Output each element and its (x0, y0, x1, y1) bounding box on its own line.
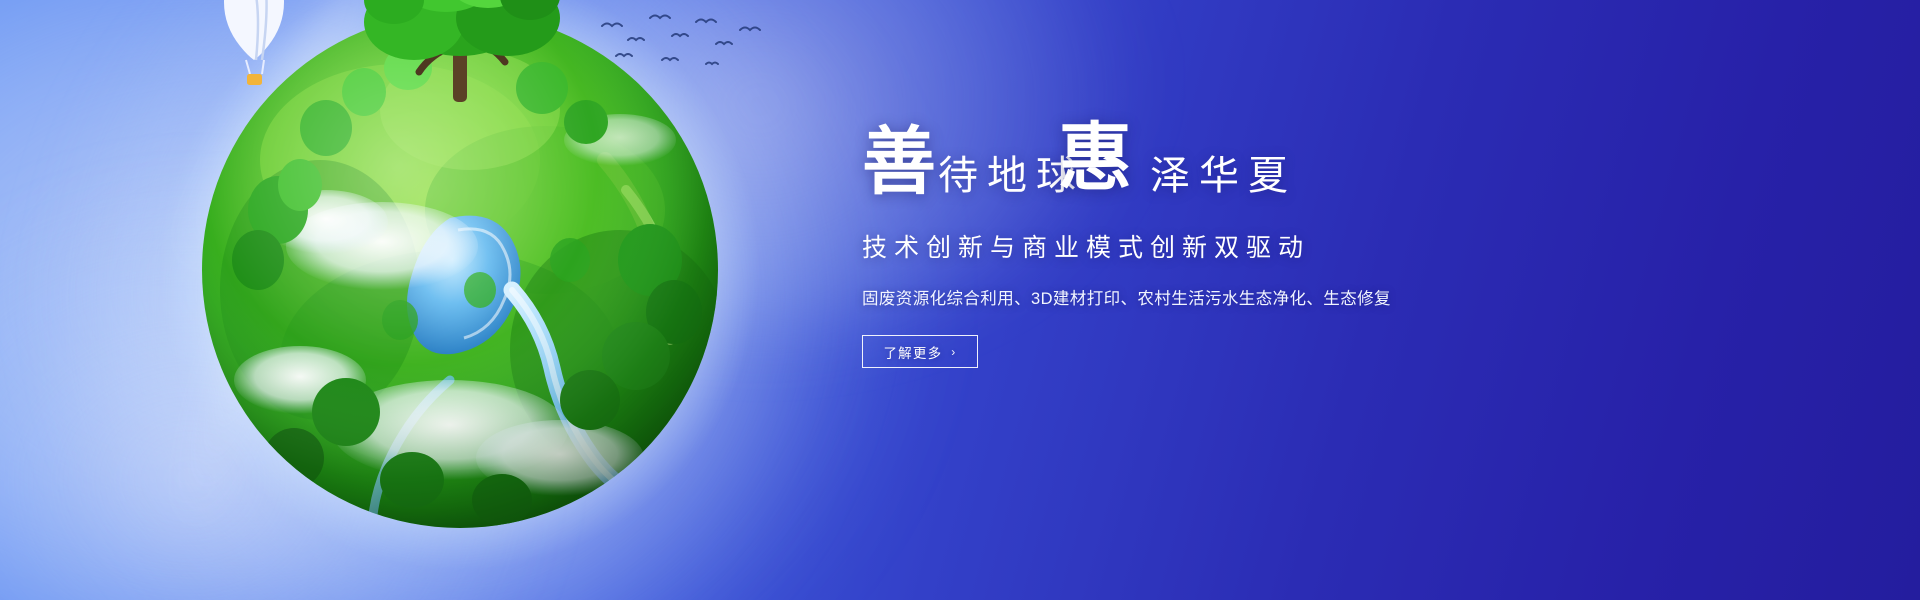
headline-char-1: 善 (862, 126, 938, 200)
headline-char-3: 惠 (1058, 122, 1134, 196)
learn-more-label: 了解更多 (883, 342, 942, 362)
headline-part-4: 泽华夏 (1150, 156, 1297, 196)
hero-banner: 善 待地球 惠 泽华夏 技术创新与商业模式创新双驱动 固废资源化综合利用、3D建… (0, 0, 1920, 600)
hero-text-block: 善 待地球 惠 泽华夏 技术创新与商业模式创新双驱动 固废资源化综合利用、3D建… (862, 120, 1842, 368)
chevron-right-icon: › (951, 345, 956, 359)
page-title: 善 待地球 惠 泽华夏 (862, 120, 1842, 212)
tiny-planet-illustration (150, 0, 770, 600)
hero-subtitle: 技术创新与商业模式创新双驱动 (862, 228, 1842, 264)
globe-svg (150, 0, 770, 580)
learn-more-button[interactable]: 了解更多 › (862, 335, 978, 368)
hero-description: 固废资源化综合利用、3D建材打印、农村生活污水生态净化、生态修复 (862, 285, 1842, 309)
